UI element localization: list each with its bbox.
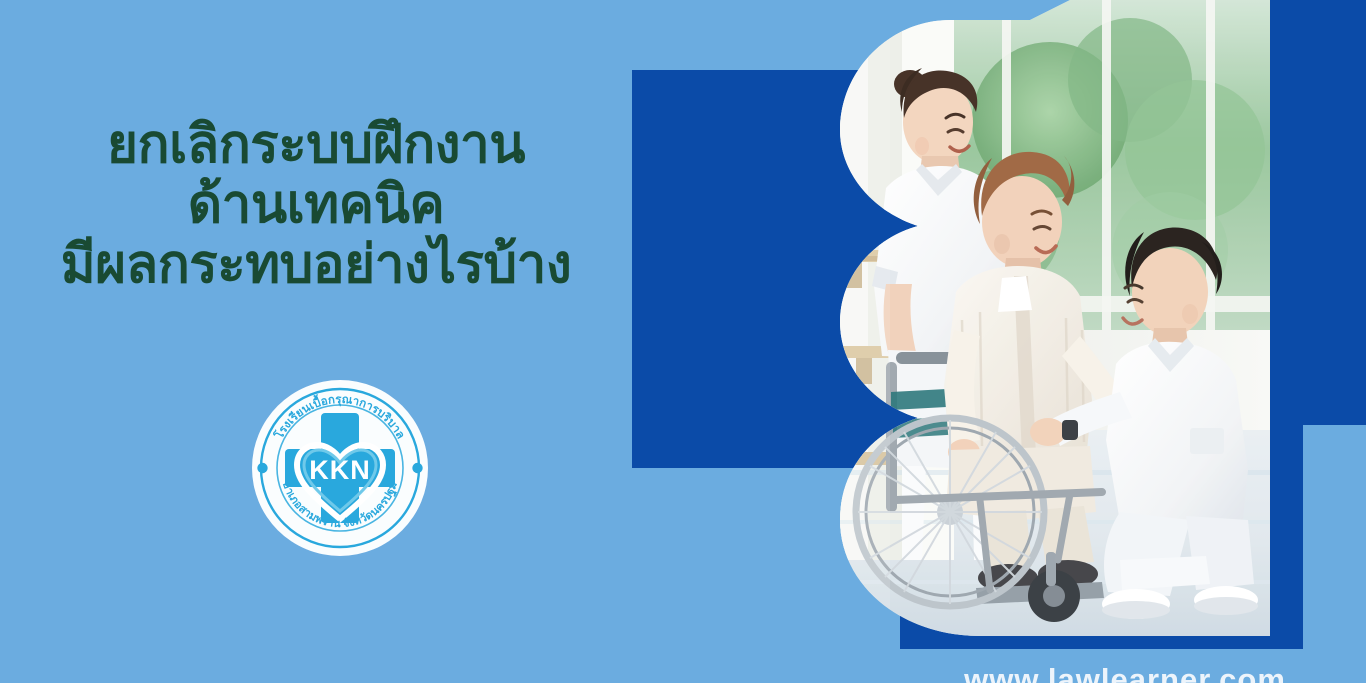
page-title: ยกเลิกระบบฝึกงาน ด้านเทคนิค มีผลกระทบอย่… <box>0 118 632 292</box>
kkn-seal-icon: KKN โรงเรียนเบื้อกรุณาการบริบาล อำเภอสาม… <box>249 377 431 559</box>
promo-banner: ยกเลิกระบบฝึกงาน ด้านเทคนิค มีผลกระทบอย่… <box>0 0 1366 683</box>
logo-monogram: KKN <box>309 455 371 485</box>
organization-logo: KKN โรงเรียนเบื้อกรุณาการบริบาล อำเภอสาม… <box>249 377 431 559</box>
headline-line-1: ยกเลิกระบบฝึกงาน <box>0 118 632 172</box>
decorative-notch-light <box>1303 425 1366 649</box>
site-watermark: www.lawlearner.com <box>905 662 1345 683</box>
headline-line-3: มีผลกระทบอย่างไรบ้าง <box>0 238 632 292</box>
headline-line-2: ด้านเทคนิค <box>0 178 632 232</box>
